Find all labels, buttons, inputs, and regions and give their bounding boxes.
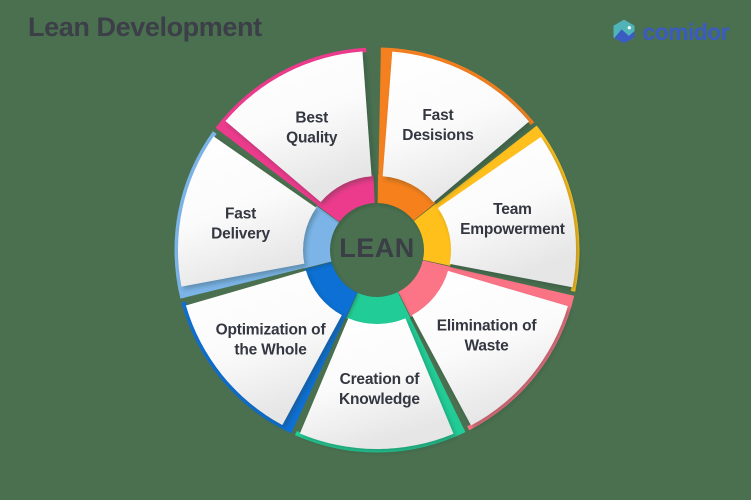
segment-label-line: Knowledge	[339, 391, 420, 408]
center-label: LEAN	[339, 233, 415, 263]
segment-label-line: Optimization of	[216, 321, 327, 338]
lean-wheel-diagram: FastDesisionsTeamEmpowermentElimination …	[142, 45, 612, 495]
segment-label-line: Waste	[464, 338, 509, 355]
segment-band-creation-of-knowledge[interactable]	[346, 292, 410, 325]
segment-label-line: Creation of	[340, 371, 421, 388]
segment-label-line: the Whole	[234, 341, 307, 358]
segment-label-line: Best	[295, 109, 328, 126]
diagram-canvas: Lean Development comidor	[0, 0, 751, 500]
segment-label-line: Fast	[422, 107, 453, 124]
segment-label-line: Delivery	[211, 226, 270, 243]
segment-label-line: Empowerment	[460, 221, 565, 238]
segment-label-line: Team	[493, 201, 532, 218]
lean-wheel-svg: FastDesisionsTeamEmpowermentElimination …	[142, 45, 612, 495]
segment-label-line: Quality	[286, 129, 338, 146]
hexagon-logo-icon	[611, 18, 637, 44]
brand-logo: comidor	[611, 16, 729, 46]
segment-label-line: Fast	[225, 206, 256, 223]
center-hub: LEAN	[339, 233, 415, 263]
brand-name: comidor	[642, 21, 729, 44]
page-title: Lean Development	[28, 12, 262, 43]
segment-label-line: Elimination of	[437, 318, 538, 335]
segment-label-line: Desisions	[402, 127, 473, 144]
